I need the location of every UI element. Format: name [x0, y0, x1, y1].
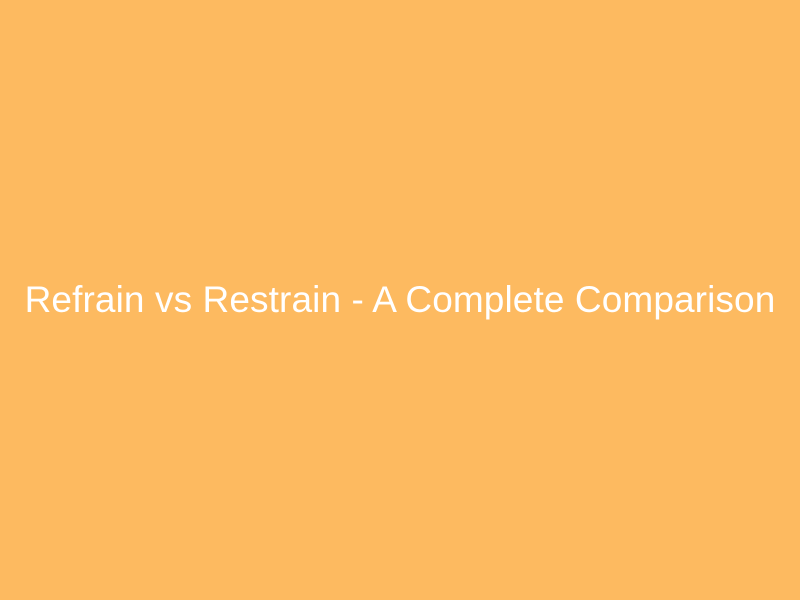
- article-hero-banner: Refrain vs Restrain - A Complete Compari…: [0, 0, 800, 600]
- page-title: Refrain vs Restrain - A Complete Compari…: [0, 278, 800, 322]
